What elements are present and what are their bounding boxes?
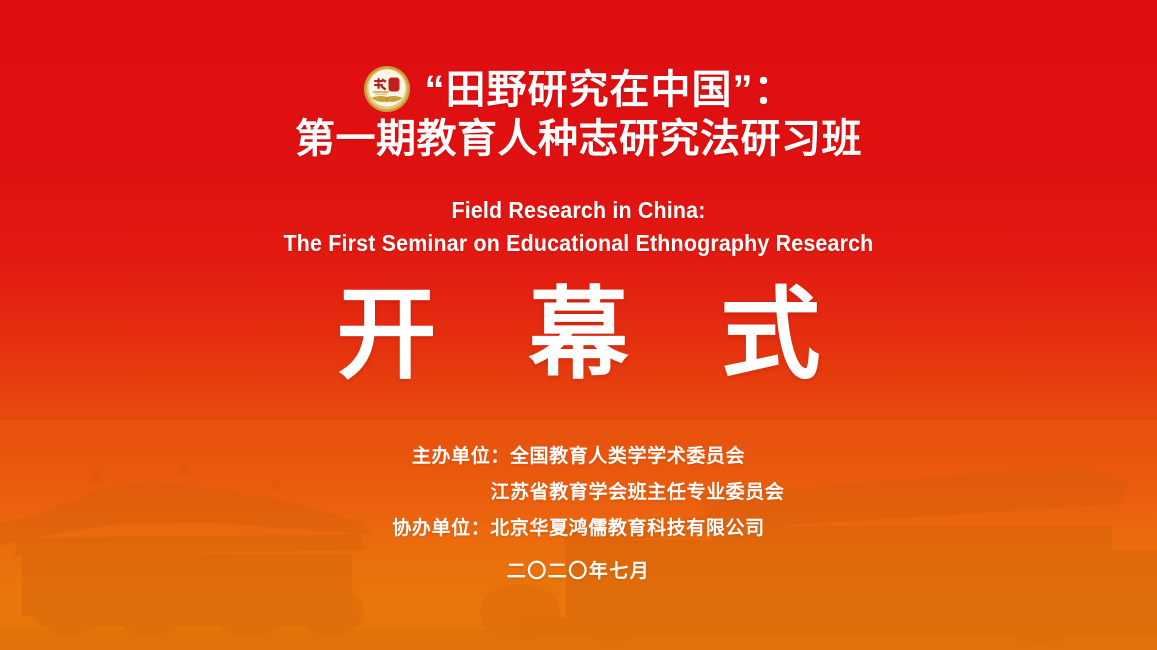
- title-line-1-row: “田野研究在中国”：: [0, 66, 1157, 115]
- subtitle-line-2: The First Seminar on Educational Ethnogr…: [40, 227, 1116, 260]
- title-line-2: 第一期教育人种志研究法研习班: [0, 115, 1157, 164]
- co-organizer-line: 协办单位：北京华夏鸿儒教育科技有限公司: [0, 519, 1157, 538]
- title-line-1: “田野研究在中国”：: [425, 66, 795, 115]
- organizers-block: 主办单位：全国教育人类学学术委员会 江苏省教育学会班主任专业委员会 协办单位：北…: [0, 447, 1157, 583]
- presentation-slide: “田野研究在中国”： 第一期教育人种志研究法研习班 Field Research…: [0, 0, 1157, 650]
- host-organization-line-2: 江苏省教育学会班主任专业委员会: [0, 483, 1157, 502]
- host-organization-line-1: 主办单位：全国教育人类学学术委员会: [0, 447, 1157, 466]
- subtitle-line-1: Field Research in China:: [40, 194, 1116, 227]
- title-block: “田野研究在中国”： 第一期教育人种志研究法研习班: [0, 66, 1157, 164]
- headline-opening-ceremony: 开幕式: [0, 285, 1157, 385]
- subtitle-block: Field Research in China: The First Semin…: [0, 194, 1157, 261]
- slide-content: “田野研究在中国”： 第一期教育人种志研究法研习班 Field Research…: [0, 0, 1157, 650]
- event-date: 二〇二〇年七月: [0, 556, 1157, 583]
- conference-emblem-icon: [363, 65, 411, 113]
